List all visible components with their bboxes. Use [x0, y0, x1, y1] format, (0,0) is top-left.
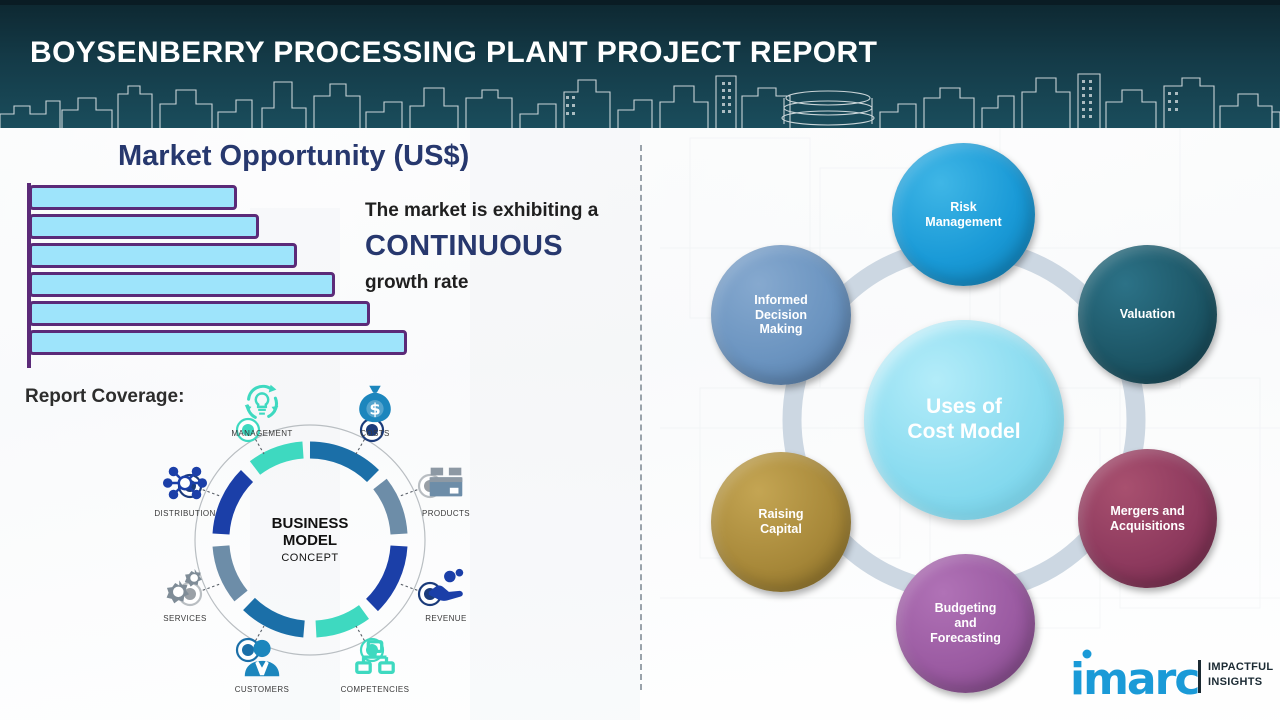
logo-tagline-2: INSIGHTS — [1208, 676, 1262, 688]
coverage-item-revenue: REVENUE — [398, 565, 494, 623]
callout-line-2: CONTINUOUS — [365, 230, 635, 263]
node-risk-management[interactable]: Risk Management — [892, 143, 1035, 286]
coverage-label-customers: CUSTOMERS — [214, 685, 310, 694]
coverage-label-competencies: COMPETENCIES — [327, 685, 423, 694]
coverage-item-services: SERVICES — [137, 565, 233, 623]
bar-row — [29, 214, 259, 239]
node-informed-decision-making[interactable]: Informed Decision Making — [711, 245, 851, 385]
node-budgeting-line-3: Forecasting — [930, 631, 1001, 646]
bar-row — [29, 243, 297, 268]
money-bag-icon: $ — [327, 380, 423, 426]
market-opportunity-bar-chart — [20, 183, 420, 368]
section-divider — [640, 145, 642, 690]
node-budgeting-and-forecasting[interactable]: Budgeting and Forecasting — [896, 554, 1035, 693]
node-budgeting-line-2: and — [930, 616, 1001, 631]
org-chart-icon — [327, 636, 423, 682]
node-raising-capital-line-2: Capital — [758, 522, 803, 537]
coverage-label-management: MANAGEMENT — [214, 429, 310, 438]
logo-separator — [1198, 660, 1201, 693]
node-budgeting-line-1: Budgeting — [930, 601, 1001, 616]
coverage-item-products: PRODUCTS — [398, 460, 494, 518]
coverage-label-products: PRODUCTS — [398, 509, 494, 518]
callout-line-1: The market is exhibiting a — [365, 200, 635, 222]
node-raising-capital[interactable]: Raising Capital — [711, 452, 851, 592]
hand-coins-icon — [398, 565, 494, 611]
node-informed-line-2: Decision — [754, 308, 807, 323]
city-skyline-icon — [0, 68, 1280, 128]
market-opportunity-title: Market Opportunity (US$) — [118, 140, 469, 173]
imarc-logo[interactable]: imarc IMPACTFUL INSIGHTS — [1070, 648, 1270, 710]
logo-wordmark: imarc — [1070, 658, 1198, 702]
node-informed-line-3: Making — [754, 322, 807, 337]
uses-of-cost-model-diagram: Uses of Cost Model Risk Management Valua… — [660, 130, 1280, 720]
network-nodes-icon — [137, 460, 233, 506]
node-valuation-line-1: Valuation — [1120, 307, 1176, 322]
business-model-diagram: BUSINESS MODEL CONCEPT — [140, 368, 480, 708]
svg-text:$: $ — [369, 400, 380, 419]
node-mergers-line-1: Mergers and — [1110, 504, 1185, 519]
node-mergers-and-acquisitions[interactable]: Mergers and Acquisitions — [1078, 449, 1217, 588]
coverage-item-management: MANAGEMENT — [214, 380, 310, 438]
user-person-icon — [214, 636, 310, 682]
coverage-label-services: SERVICES — [137, 614, 233, 623]
lightbulb-recycle-icon — [214, 380, 310, 426]
node-risk-management-line-1: Risk — [925, 200, 1001, 215]
callout-line-3: growth rate — [365, 272, 635, 294]
node-center-line-2: Cost Model — [907, 420, 1020, 445]
node-mergers-line-2: Acquisitions — [1110, 519, 1185, 534]
coverage-item-competencies: COMPETENCIES — [327, 636, 423, 694]
business-model-wheel — [140, 368, 480, 708]
package-box-icon — [398, 460, 494, 506]
page-header: BOYSENBERRY PROCESSING PLANT PROJECT REP… — [0, 0, 1280, 128]
coverage-label-distribution: DISTRIBUTION — [137, 509, 233, 518]
node-valuation[interactable]: Valuation — [1078, 245, 1217, 384]
header-top-accent — [0, 0, 1280, 5]
node-risk-management-line-2: Management — [925, 215, 1001, 230]
logo-tagline-1: IMPACTFUL — [1208, 661, 1273, 673]
node-informed-line-1: Informed — [754, 293, 807, 308]
growth-callout: The market is exhibiting a CONTINUOUS gr… — [365, 200, 635, 294]
bar-row — [29, 301, 370, 326]
coverage-item-customers: CUSTOMERS — [214, 636, 310, 694]
node-raising-capital-line-1: Raising — [758, 507, 803, 522]
bar-row — [29, 185, 237, 210]
coverage-item-distribution: DISTRIBUTION — [137, 460, 233, 518]
coverage-label-costs: COSTS — [327, 429, 423, 438]
node-center-uses-of-cost-model[interactable]: Uses of Cost Model — [864, 320, 1064, 520]
page-title: BOYSENBERRY PROCESSING PLANT PROJECT REP… — [30, 36, 877, 70]
bar-row — [29, 330, 407, 355]
gears-icon — [137, 565, 233, 611]
bar-row — [29, 272, 335, 297]
coverage-item-costs: $ COSTS — [327, 380, 423, 438]
node-center-line-1: Uses of — [907, 395, 1020, 420]
coverage-label-revenue: REVENUE — [398, 614, 494, 623]
